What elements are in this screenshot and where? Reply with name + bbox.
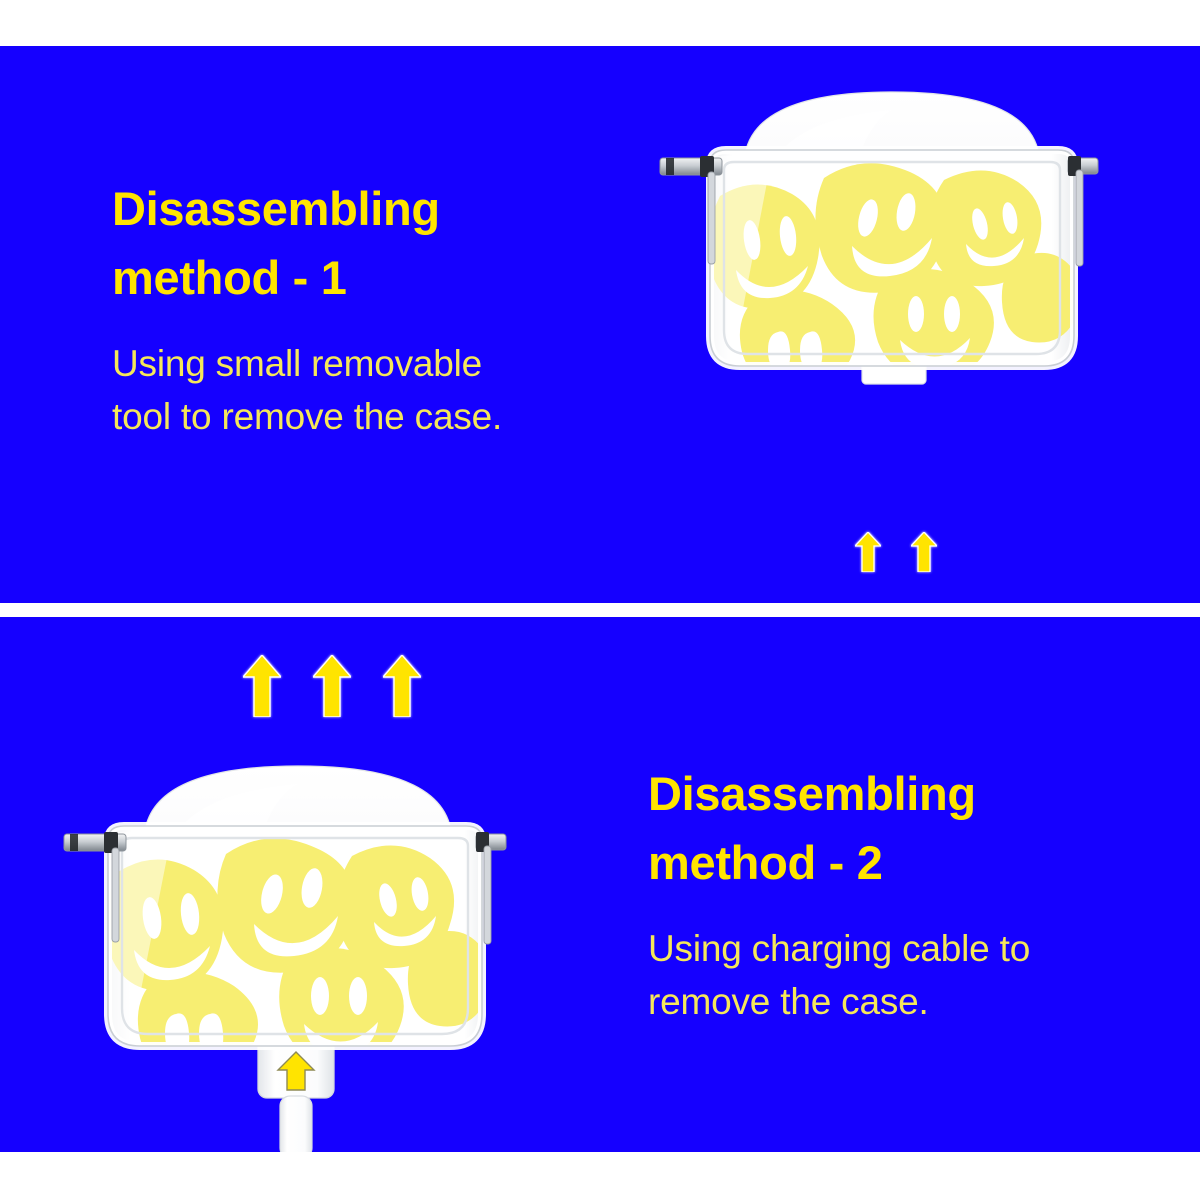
text-block-method-2: Disassembling method - 2 Using charging …: [648, 759, 1168, 1028]
charging-cable: [258, 1036, 334, 1152]
arrow-group-top-method-2: [243, 655, 421, 717]
up-arrow-icon: [911, 532, 937, 572]
panel-method-2: Disassembling method - 2 Using charging …: [0, 617, 1200, 1152]
text-block-method-1: Disassembling method - 1 Using small rem…: [112, 174, 632, 443]
up-arrow-icon: [383, 655, 421, 717]
product-image-method-1: [672, 46, 1112, 426]
page-title-method-1: Disassembling method - 1: [112, 174, 632, 312]
page-title-method-2: Disassembling method - 2: [648, 759, 1168, 897]
panel-method-1: Disassembling method - 1 Using small rem…: [0, 46, 1200, 603]
arrow-group-bottom-method-1: [855, 532, 937, 572]
instruction-graphic: Disassembling method - 1 Using small rem…: [0, 0, 1200, 1200]
cable-cord: [280, 1096, 312, 1152]
instruction-text-method-2: Using charging cable to remove the case.: [648, 897, 1168, 1028]
product-image-method-2: [62, 718, 532, 1152]
removal-tool-left: [64, 832, 126, 942]
bottom-margin: [0, 1152, 1200, 1200]
panel-divider: [0, 603, 1200, 617]
up-arrow-icon: [243, 655, 281, 717]
up-arrow-icon: [855, 532, 881, 572]
removal-tool-left: [660, 156, 722, 264]
up-arrow-icon: [313, 655, 351, 717]
top-margin: [0, 0, 1200, 46]
instruction-text-method-1: Using small removable tool to remove the…: [112, 312, 632, 443]
